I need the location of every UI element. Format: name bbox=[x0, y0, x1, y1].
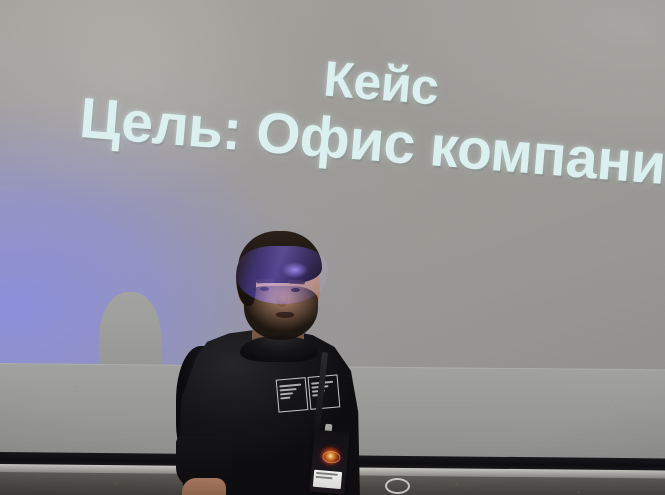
forearm bbox=[182, 478, 226, 495]
microtext-line bbox=[280, 392, 293, 395]
microtext-line bbox=[316, 476, 333, 479]
beard bbox=[244, 286, 318, 340]
conference-badge bbox=[309, 430, 349, 495]
badge-subtitle-text bbox=[315, 480, 339, 482]
right-eyebrow bbox=[288, 280, 305, 285]
photo-scene: Кейс Цель: Офис компании bbox=[0, 0, 665, 495]
presenter bbox=[0, 0, 665, 495]
badge-name-card bbox=[313, 470, 342, 489]
shirt-print bbox=[276, 374, 341, 412]
microtext-line bbox=[279, 384, 301, 388]
microtext-line bbox=[280, 397, 290, 400]
shirt-print-box-left bbox=[276, 377, 309, 412]
microtext-line bbox=[280, 388, 297, 391]
